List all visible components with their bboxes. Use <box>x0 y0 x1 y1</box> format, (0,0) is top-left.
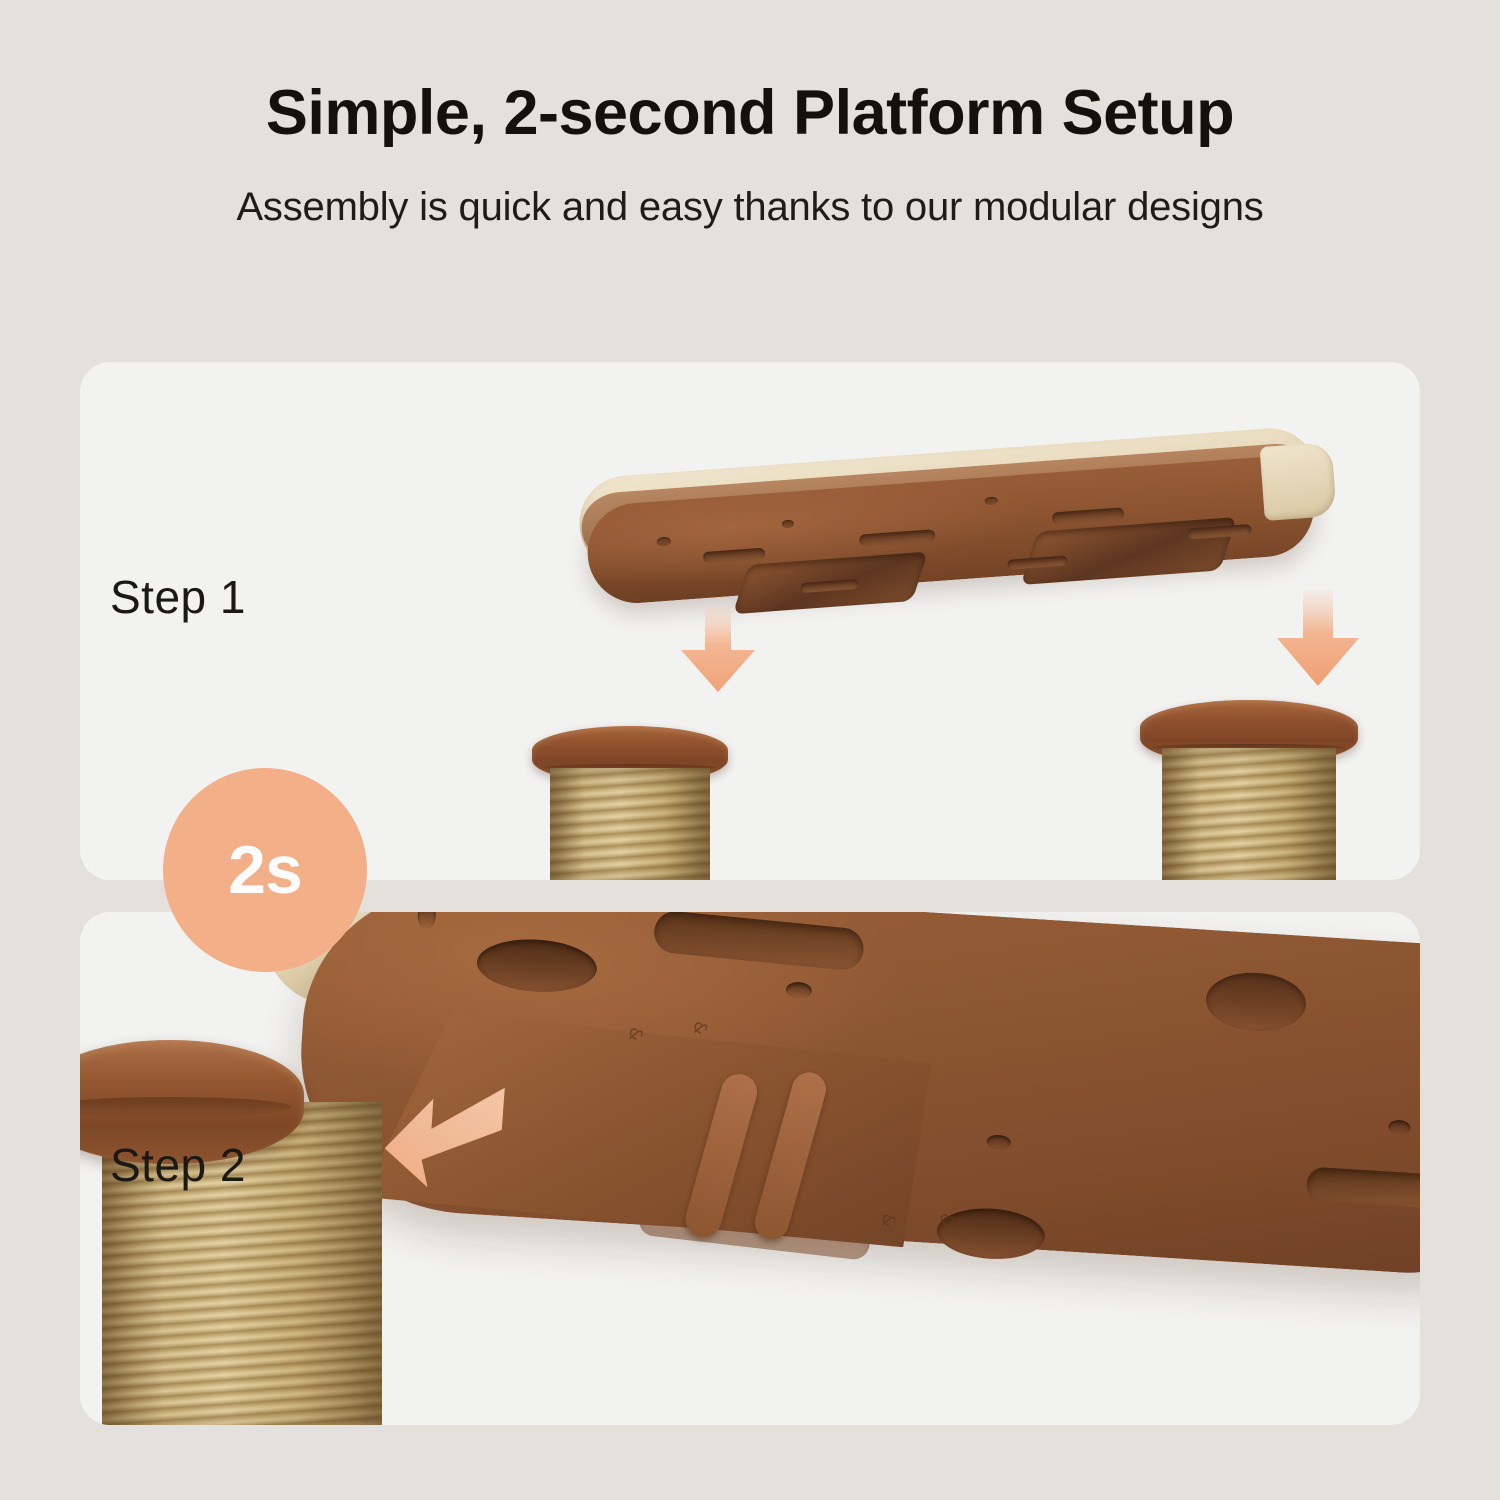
screw-hole <box>984 496 998 505</box>
mounting-hole <box>475 936 598 995</box>
sisal-rope <box>550 768 710 880</box>
mold-marking: ⅋ <box>880 1213 901 1228</box>
mold-marking: ⅋ <box>691 1021 712 1036</box>
screw-hole <box>417 912 437 929</box>
platform-vent <box>859 529 936 547</box>
down-arrow-icon <box>1270 590 1366 686</box>
duration-badge-label: 2s <box>228 836 302 904</box>
page-subtitle: Assembly is quick and easy thanks to our… <box>0 145 1500 227</box>
step-2-card: ⅋ ⅋ ⅋ ⅋ ⅋ <box>80 912 1420 1425</box>
down-arrow-icon <box>675 606 761 692</box>
scratching-post <box>532 726 728 880</box>
header: Simple, 2-second Platform Setup Assembly… <box>0 0 1500 227</box>
mold-marking: ⅋ <box>627 1027 648 1042</box>
platform-latch-tab <box>1260 442 1337 521</box>
step-2-label: Step 2 <box>110 1138 246 1192</box>
screw-hole <box>782 519 795 528</box>
platform-board <box>576 425 1324 614</box>
step-2-illustration: ⅋ ⅋ ⅋ ⅋ ⅋ <box>80 912 1420 1425</box>
scratching-post <box>1140 700 1358 880</box>
page-title: Simple, 2-second Platform Setup <box>0 0 1500 145</box>
platform-vent <box>1052 507 1125 524</box>
platform-vent <box>1306 1167 1420 1210</box>
screw-hole <box>986 1134 1011 1149</box>
screw-hole <box>657 537 672 547</box>
screw-hole <box>785 981 812 999</box>
infographic-page: Simple, 2-second Platform Setup Assembly… <box>0 0 1500 1500</box>
mold-marking: ⅋ <box>938 1212 959 1227</box>
step-1-label: Step 1 <box>110 570 246 624</box>
mounting-hole <box>1204 970 1307 1034</box>
platform-vent <box>652 912 865 972</box>
screw-hole <box>1388 1120 1411 1135</box>
duration-badge: 2s <box>163 768 367 972</box>
platform-vent <box>703 548 766 564</box>
left-arrow-icon <box>380 1082 510 1190</box>
sisal-rope <box>1162 748 1336 880</box>
